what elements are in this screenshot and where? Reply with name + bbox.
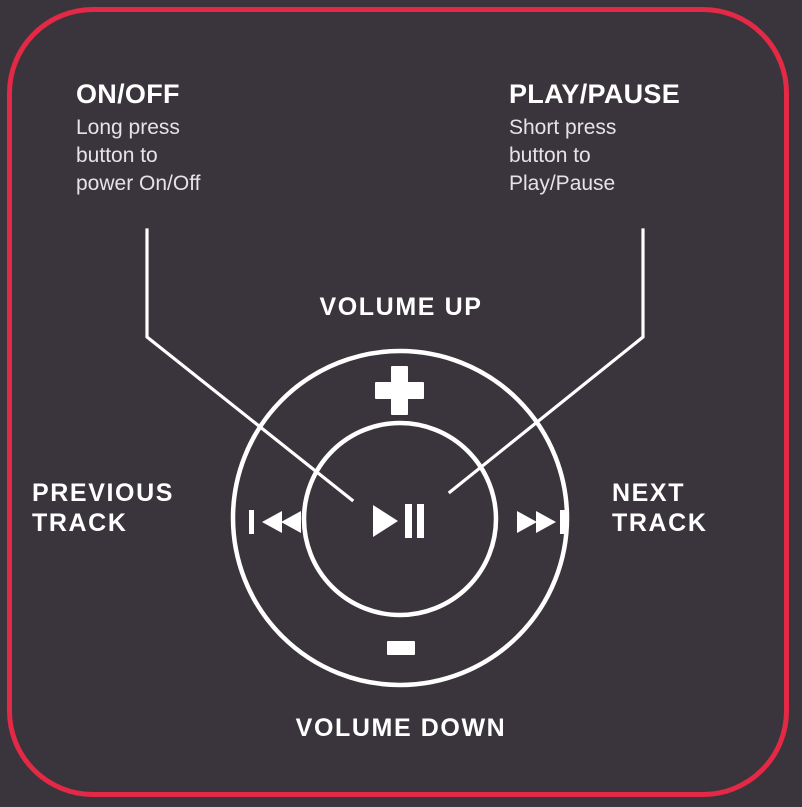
callout-on-off: ON/OFF Long press button to power On/Off: [76, 80, 201, 198]
callout-play-pause: PLAY/PAUSE Short press button to Play/Pa…: [509, 80, 680, 198]
callout-on-off-line-2: button to: [76, 142, 201, 170]
callout-on-off-body: Long press button to power On/Off: [76, 114, 201, 198]
inner-wheel-ring[interactable]: [304, 423, 496, 615]
callout-play-pause-title: PLAY/PAUSE: [509, 80, 680, 108]
leader-line-play-pause: [450, 230, 643, 492]
callout-play-pause-line-2: button to: [509, 142, 680, 170]
callout-on-off-line-3: power On/Off: [76, 170, 201, 198]
skip-previous-icon[interactable]: [249, 510, 301, 534]
label-volume-down: VOLUME DOWN: [0, 713, 802, 743]
callout-on-off-title: ON/OFF: [76, 80, 201, 108]
minus-icon[interactable]: [387, 641, 415, 655]
label-next-track: NEXT TRACK: [612, 478, 708, 538]
label-next-track-line-1: NEXT: [612, 478, 708, 508]
callout-play-pause-body: Short press button to Play/Pause: [509, 114, 680, 198]
callout-play-pause-line-1: Short press: [509, 114, 680, 142]
label-volume-up: VOLUME UP: [0, 292, 802, 322]
callout-on-off-line-1: Long press: [76, 114, 201, 142]
skip-next-icon[interactable]: [517, 510, 565, 534]
label-previous-track-line-1: PREVIOUS: [32, 478, 174, 508]
device-control-diagram: ON/OFF Long press button to power On/Off…: [0, 0, 802, 807]
label-next-track-line-2: TRACK: [612, 508, 708, 538]
leader-line-on-off: [147, 230, 352, 500]
play-pause-icon[interactable]: [373, 504, 424, 538]
label-previous-track: PREVIOUS TRACK: [32, 478, 174, 538]
label-previous-track-line-2: TRACK: [32, 508, 174, 538]
callout-play-pause-line-3: Play/Pause: [509, 170, 680, 198]
plus-icon[interactable]: [375, 366, 424, 415]
